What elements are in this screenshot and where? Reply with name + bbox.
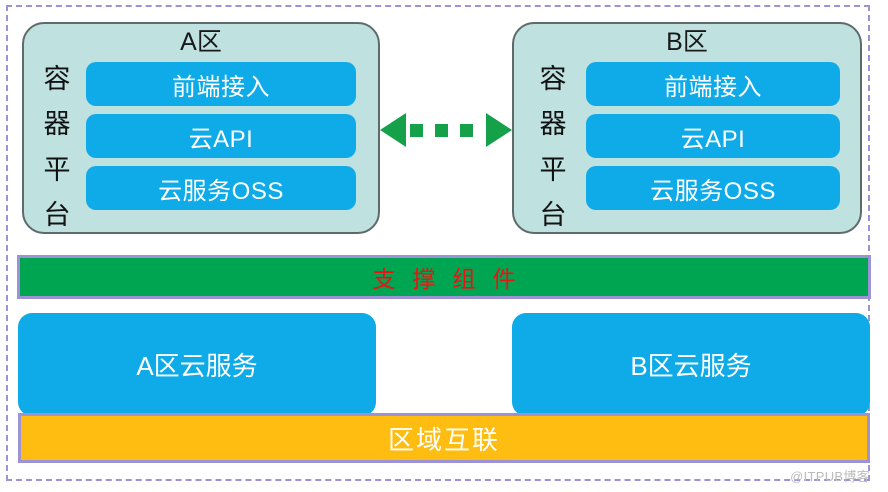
zone-b-side-label-char-3: 平 <box>540 155 567 185</box>
zone-a-side-label-char-1: 容 <box>44 64 71 94</box>
zone-a-side-label-char-3: 平 <box>44 155 71 185</box>
support-components-label: 支撑组件 <box>356 260 533 294</box>
zone-b-service-cloud-api[interactable]: 云API <box>586 114 840 158</box>
zone-b-side-label-char-4: 台 <box>540 200 567 230</box>
zone-a-service-frontend[interactable]: 前端接入 <box>86 62 356 106</box>
architecture-diagram: A区 容 器 平 台 前端接入 云API 云服务OSS B区 容 器 平 台 <box>0 0 888 492</box>
regional-interconnect-bar[interactable]: 区域互联 <box>18 413 870 463</box>
zone-a-side-label-char-4: 台 <box>44 200 71 230</box>
zone-a-service-stack: 前端接入 云API 云服务OSS <box>86 62 356 210</box>
regional-interconnect-label: 区域互联 <box>388 420 500 457</box>
zone-a-side-label-char-2: 器 <box>44 109 71 139</box>
zone-a-title: A区 <box>24 28 378 56</box>
watermark: @ITPUB博客 <box>790 466 870 485</box>
zone-b-service-frontend[interactable]: 前端接入 <box>586 62 840 106</box>
zone-b-container-platform[interactable]: B区 容 器 平 台 前端接入 云API 云服务OSS <box>512 22 862 234</box>
zone-b-service-cloud-oss[interactable]: 云服务OSS <box>586 166 840 210</box>
bidirectional-dashed-arrow-icon <box>380 110 512 150</box>
cloud-service-a[interactable]: A区云服务 <box>18 313 376 416</box>
cloud-service-b[interactable]: B区云服务 <box>512 313 870 416</box>
zone-b-side-label-char-1: 容 <box>540 64 567 94</box>
zone-a-container-platform[interactable]: A区 容 器 平 台 前端接入 云API 云服务OSS <box>22 22 380 234</box>
support-components-bar[interactable]: 支撑组件 <box>17 255 871 299</box>
zone-b-title: B区 <box>514 28 860 56</box>
zone-a-service-cloud-oss[interactable]: 云服务OSS <box>86 166 356 210</box>
zone-b-side-label-char-2: 器 <box>540 109 567 139</box>
zone-a-service-cloud-api[interactable]: 云API <box>86 114 356 158</box>
zone-b-side-label: 容 器 平 台 <box>536 64 570 230</box>
zone-a-side-label: 容 器 平 台 <box>40 64 74 230</box>
zone-b-service-stack: 前端接入 云API 云服务OSS <box>586 62 840 210</box>
